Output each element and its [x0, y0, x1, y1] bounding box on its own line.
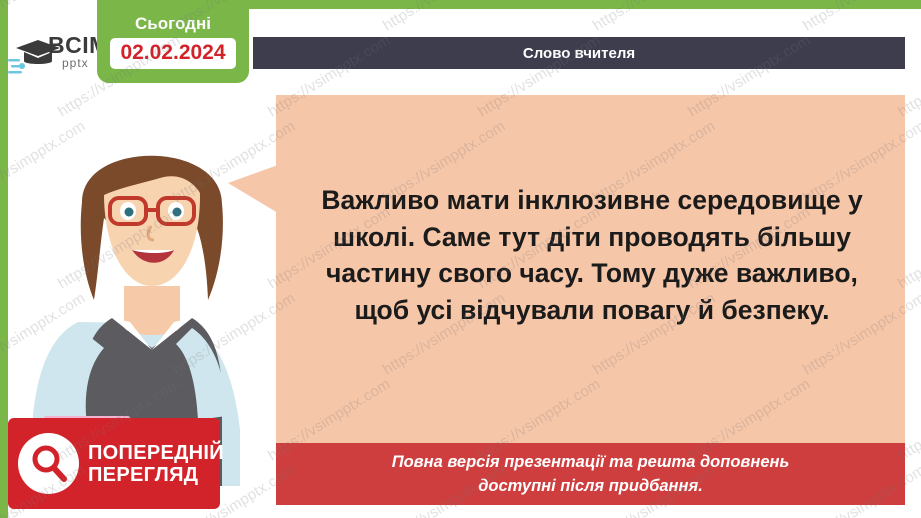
section-header-bar: Слово вчителя	[253, 37, 905, 69]
left-accent-bar	[0, 0, 8, 518]
speech-bubble-text: Важливо мати інклюзивне середовище у шко…	[296, 182, 888, 328]
watermark-text: https://vsimpptx.com	[0, 0, 88, 34]
section-title: Слово вчителя	[523, 45, 635, 62]
footer-line-1: Повна версія презентації та решта доповн…	[290, 451, 891, 475]
preview-stamp-text: ПОПЕРЕДНІЙ ПЕРЕГЛЯД	[88, 442, 224, 486]
footer-line-2: доступні після придбання.	[290, 475, 891, 499]
preview-stamp-circle	[18, 433, 79, 494]
today-label: Сьогодні	[97, 14, 249, 34]
presentation-slide: BCIM pptx Сьогодні 02.02.2024 Слово вчит…	[0, 0, 921, 518]
magnifier-icon	[31, 445, 67, 482]
preview-stamp-line-2: ПЕРЕГЛЯД	[88, 464, 224, 486]
preview-stamp-line-1: ПОПЕРЕДНІЙ	[88, 442, 224, 464]
footer-notice: Повна версія презентації та решта доповн…	[276, 443, 905, 505]
date-value: 02.02.2024	[110, 38, 235, 69]
preview-stamp: ПОПЕРЕДНІЙ ПЕРЕГЛЯД	[8, 418, 220, 509]
date-badge: Сьогодні 02.02.2024	[97, 0, 249, 83]
